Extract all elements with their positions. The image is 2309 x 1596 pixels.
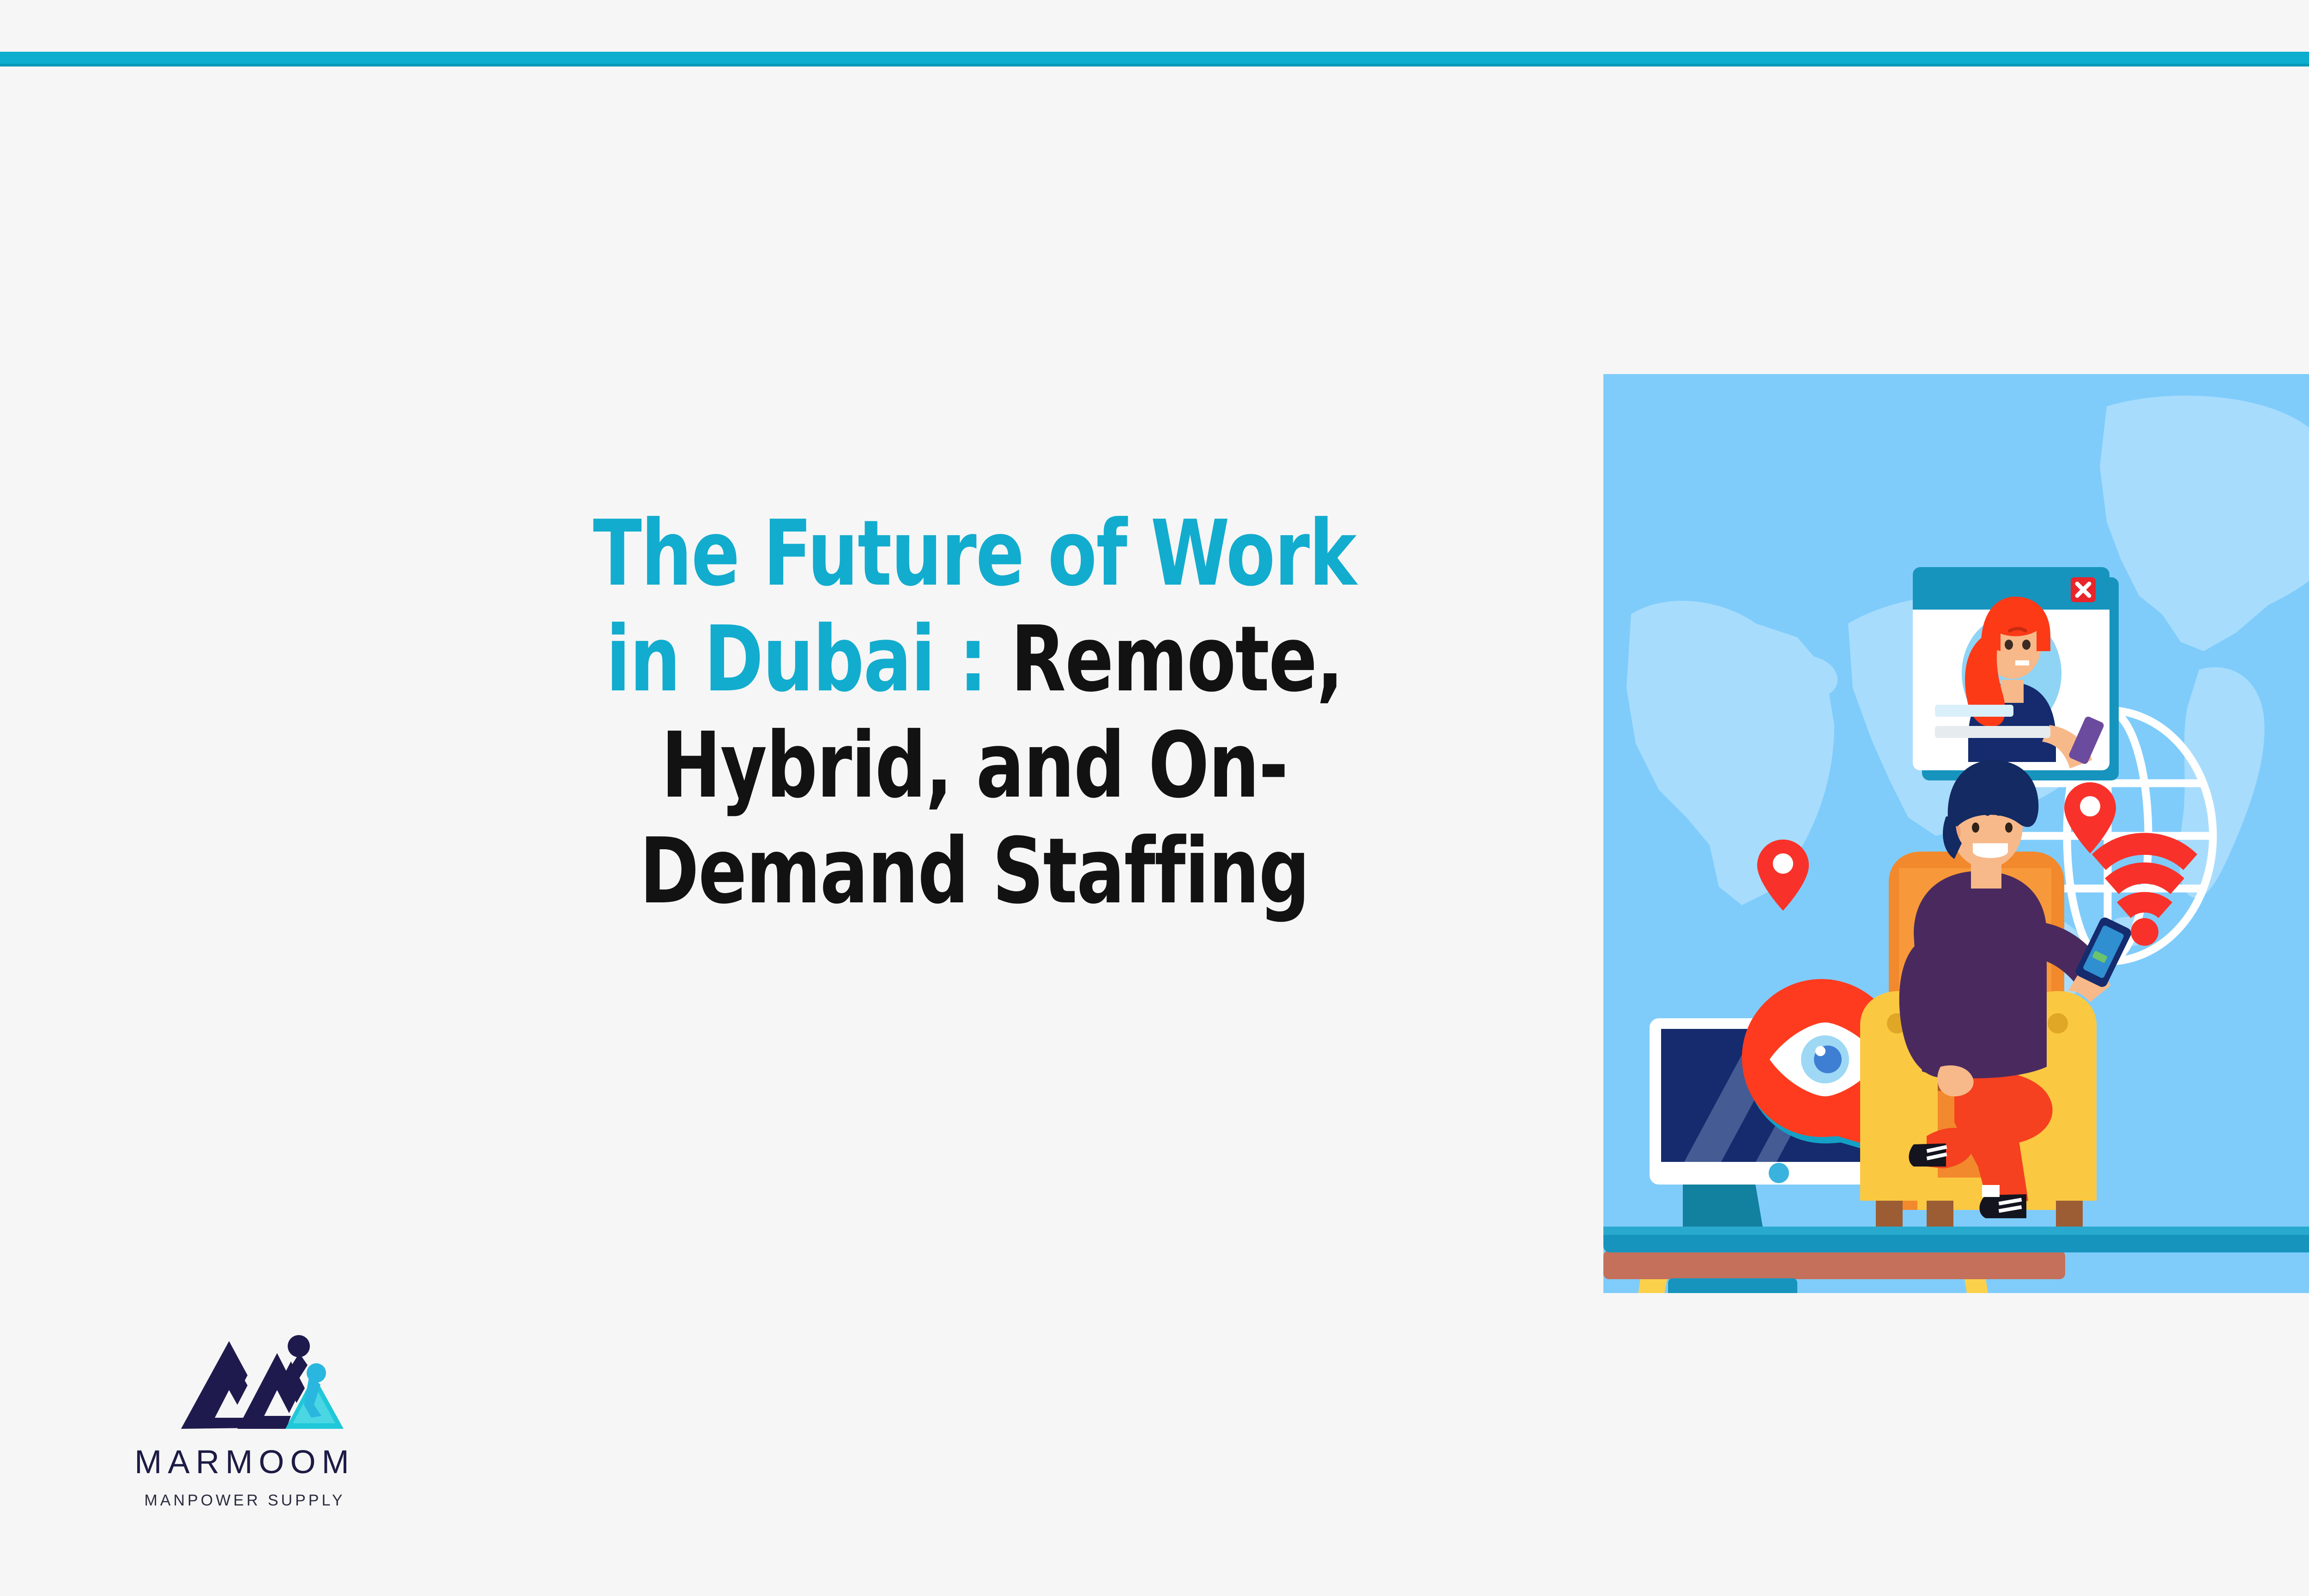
title-line-4: Demand Staffing (426, 819, 1523, 925)
skeleton-line (1935, 705, 2013, 717)
skeleton-line (1935, 726, 2050, 738)
video-call-card (1913, 567, 2119, 780)
title-line-1: The Future of Work (426, 501, 1523, 607)
sneaker (1909, 1143, 1947, 1167)
page-title: The Future of Work in Dubai : Remote, Hy… (426, 501, 1523, 925)
title-line-2-black: Remote, (986, 607, 1342, 712)
title-line-4-text: Demand Staffing (640, 819, 1309, 924)
file-cabinet (1668, 1278, 1797, 1293)
title-line-3-text: Hybrid, and On- (661, 713, 1287, 818)
title-line-1-text: The Future of Work (593, 501, 1356, 606)
illustration-svg (1603, 374, 2309, 1293)
title-line-3: Hybrid, and On- (426, 713, 1523, 819)
top-accent-bar-shadow (0, 64, 2309, 66)
title-line-2-cyan: in Dubai : (606, 607, 986, 712)
title-line-2: in Dubai : Remote, (426, 607, 1523, 713)
marmoom-mountain-mark-icon (139, 1325, 351, 1434)
brand-logo: MARMOOM MANPOWER SUPPLY (97, 1325, 393, 1508)
hero-illustration (1603, 374, 2309, 1293)
poster-canvas: The Future of Work in Dubai : Remote, Hy… (0, 0, 2309, 1596)
logo-wordmark: MARMOOM (97, 1446, 393, 1479)
logo-tagline: MANPOWER SUPPLY (97, 1493, 393, 1508)
